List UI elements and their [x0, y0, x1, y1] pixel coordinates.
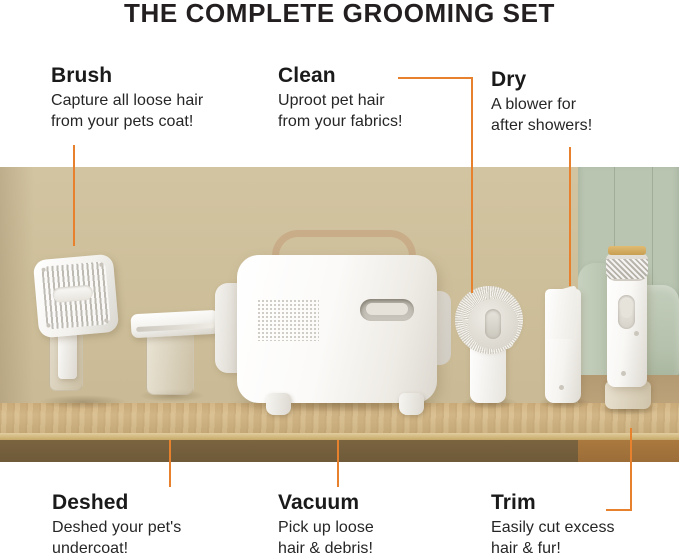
- sofa-seam: [652, 167, 653, 299]
- dry-nozzle-button: [559, 385, 564, 390]
- callout-vacuum-heading: Vacuum: [278, 491, 374, 515]
- leader-line-dry: [569, 147, 571, 286]
- callout-dry-line2: after showers!: [491, 115, 592, 136]
- callout-brush-line1: Capture all loose hair: [51, 90, 203, 111]
- callout-vacuum-line2: hair & debris!: [278, 538, 374, 559]
- table-front-panel-right: [578, 440, 679, 462]
- deshed-blade-edge: [136, 323, 214, 332]
- trim-indicator-led: [634, 331, 639, 336]
- leader-line-vacuum: [337, 440, 339, 487]
- callout-dry-line1: A blower for: [491, 94, 592, 115]
- infographic-page: THE COMPLETE GROOMING SET: [0, 0, 679, 559]
- callout-clean-line2: from your fabrics!: [278, 111, 403, 132]
- callout-trim: Trim Easily cut excess hair & fur!: [491, 491, 615, 559]
- callout-dry: Dry A blower for after showers!: [491, 68, 592, 136]
- callout-trim-heading: Trim: [491, 491, 615, 515]
- clean-brush-disc: [459, 290, 519, 350]
- callout-deshed-line2: undercoat!: [52, 538, 181, 559]
- dry-nozzle-flare: [545, 285, 577, 339]
- trim-gold-blade: [608, 246, 646, 255]
- contact-shadow: [40, 395, 126, 409]
- callout-trim-line1: Easily cut excess: [491, 517, 615, 538]
- brush-head: [33, 254, 119, 339]
- vacuum-grip-cutout: [360, 299, 414, 321]
- trim-blade-head: [606, 253, 648, 281]
- vacuum-body: [237, 255, 437, 403]
- vacuum-vent-grille: [257, 299, 319, 341]
- trim-power-switch: [618, 295, 635, 329]
- callout-deshed-heading: Deshed: [52, 491, 181, 515]
- page-title: THE COMPLETE GROOMING SET: [0, 0, 679, 28]
- product-photo: [0, 167, 679, 462]
- vacuum-foot-right: [399, 393, 424, 415]
- callout-clean: Clean Uproot pet hair from your fabrics!: [278, 64, 403, 132]
- leader-line-deshed: [169, 440, 171, 487]
- wall-left-shadow: [0, 167, 34, 423]
- callout-brush-heading: Brush: [51, 64, 203, 88]
- callout-brush-line2: from your pets coat!: [51, 111, 203, 132]
- vacuum-grip-inner: [366, 303, 408, 315]
- leader-line-clean-h: [398, 77, 473, 79]
- vacuum-foot-left: [266, 393, 291, 415]
- callout-clean-line1: Uproot pet hair: [278, 90, 403, 111]
- callout-dry-heading: Dry: [491, 68, 592, 92]
- callout-clean-heading: Clean: [278, 64, 403, 88]
- trim-brand-mark: [621, 371, 626, 376]
- trim-clipper-body: [607, 265, 647, 387]
- callout-vacuum-line1: Pick up loose: [278, 517, 374, 538]
- callout-brush: Brush Capture all loose hair from your p…: [51, 64, 203, 132]
- leader-line-trim-v: [630, 428, 632, 511]
- trim-switch-inner: [621, 299, 632, 318]
- callout-trim-line2: hair & fur!: [491, 538, 615, 559]
- leader-line-brush: [73, 145, 75, 246]
- callout-deshed-line1: Deshed your pet's: [52, 517, 181, 538]
- clean-brush-slot: [485, 309, 501, 339]
- leader-line-clean-v: [471, 77, 473, 293]
- callout-vacuum: Vacuum Pick up loose hair & debris!: [278, 491, 374, 559]
- callout-deshed: Deshed Deshed your pet's undercoat!: [52, 491, 181, 559]
- trim-blade-mesh: [606, 259, 648, 279]
- deshed-blade: [130, 310, 219, 339]
